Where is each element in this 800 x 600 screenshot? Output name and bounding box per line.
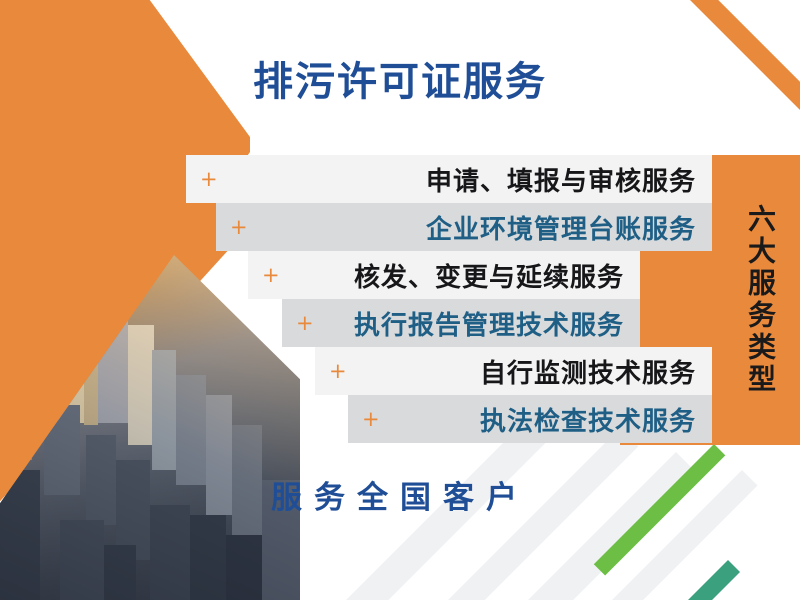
list-item-label: 企业环境管理台账服务 — [248, 209, 712, 246]
slogan-text: 服务全国客户 — [0, 472, 800, 517]
list-item[interactable]: + 自行监测技术服务 — [315, 347, 712, 395]
list-item[interactable]: + 核发、变更与延续服务 — [248, 251, 640, 299]
list-item-label: 申请、填报与审核服务 — [218, 161, 712, 198]
list-item[interactable]: + 执行报告管理技术服务 — [282, 299, 640, 347]
list-item[interactable]: + 执法检查技术服务 — [348, 395, 712, 443]
plus-icon: + — [348, 409, 380, 430]
plus-icon: + — [186, 169, 218, 190]
plus-icon: + — [216, 217, 248, 238]
list-item-label: 执行报告管理技术服务 — [314, 305, 640, 342]
slide-canvas: 排污许可证服务 六大服务类型 + 申请、填报与审核服务 + 企业环境管理台账服务… — [0, 0, 800, 600]
plus-icon: + — [315, 361, 347, 382]
list-item[interactable]: + 企业环境管理台账服务 — [216, 203, 712, 251]
list-item-label: 自行监测技术服务 — [347, 353, 712, 390]
plus-icon: + — [282, 313, 314, 334]
plus-icon: + — [248, 265, 280, 286]
list-item-label: 执法检查技术服务 — [380, 401, 712, 438]
list-item[interactable]: + 申请、填报与审核服务 — [186, 155, 712, 203]
list-item-label: 核发、变更与延续服务 — [280, 257, 640, 294]
